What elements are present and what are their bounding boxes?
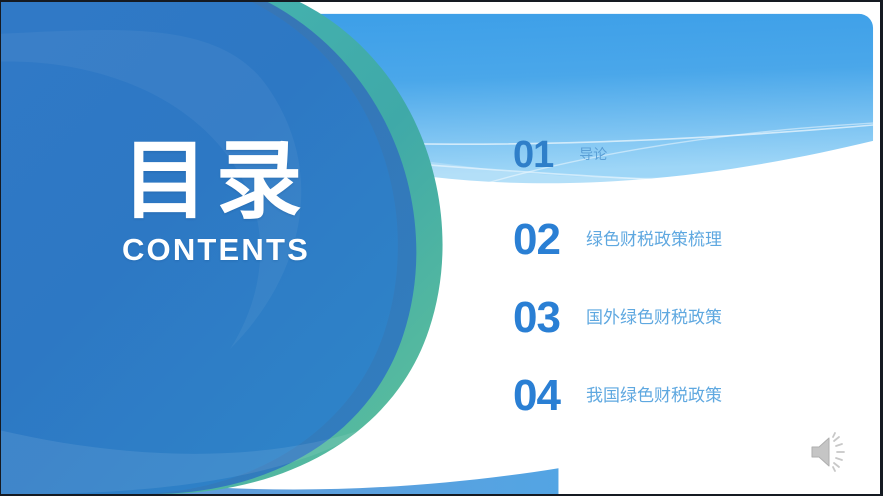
contents-item-number: 01	[513, 136, 553, 174]
contents-item-01[interactable]: 01 导论	[513, 136, 607, 174]
bottom-swoosh	[1, 450, 558, 494]
presentation-slide: 目录 CONTENTS 01 导论 02 绿色财税政策梳理 03 国外绿色财税政…	[0, 0, 883, 496]
page-title-cn: 目录	[1, 138, 431, 226]
contents-item-03[interactable]: 03 国外绿色财税政策	[513, 296, 722, 340]
slide-canvas: 目录 CONTENTS 01 导论 02 绿色财税政策梳理 03 国外绿色财税政…	[1, 2, 880, 494]
page-title-en: CONTENTS	[1, 232, 431, 268]
speaker-icon[interactable]	[808, 432, 854, 472]
contents-item-label: 导论	[579, 148, 607, 162]
contents-item-04[interactable]: 04 我国绿色财税政策	[513, 374, 722, 418]
contents-item-label: 国外绿色财税政策	[586, 310, 722, 327]
contents-item-02[interactable]: 02 绿色财税政策梳理	[513, 218, 722, 262]
contents-item-label: 绿色财税政策梳理	[586, 232, 722, 249]
contents-item-number: 03	[513, 296, 560, 340]
contents-item-number: 04	[513, 374, 560, 418]
blob-lower-curve	[1, 427, 371, 494]
contents-item-number: 02	[513, 218, 560, 262]
contents-item-label: 我国绿色财税政策	[586, 388, 722, 405]
title-block: 目录 CONTENTS	[1, 138, 431, 268]
